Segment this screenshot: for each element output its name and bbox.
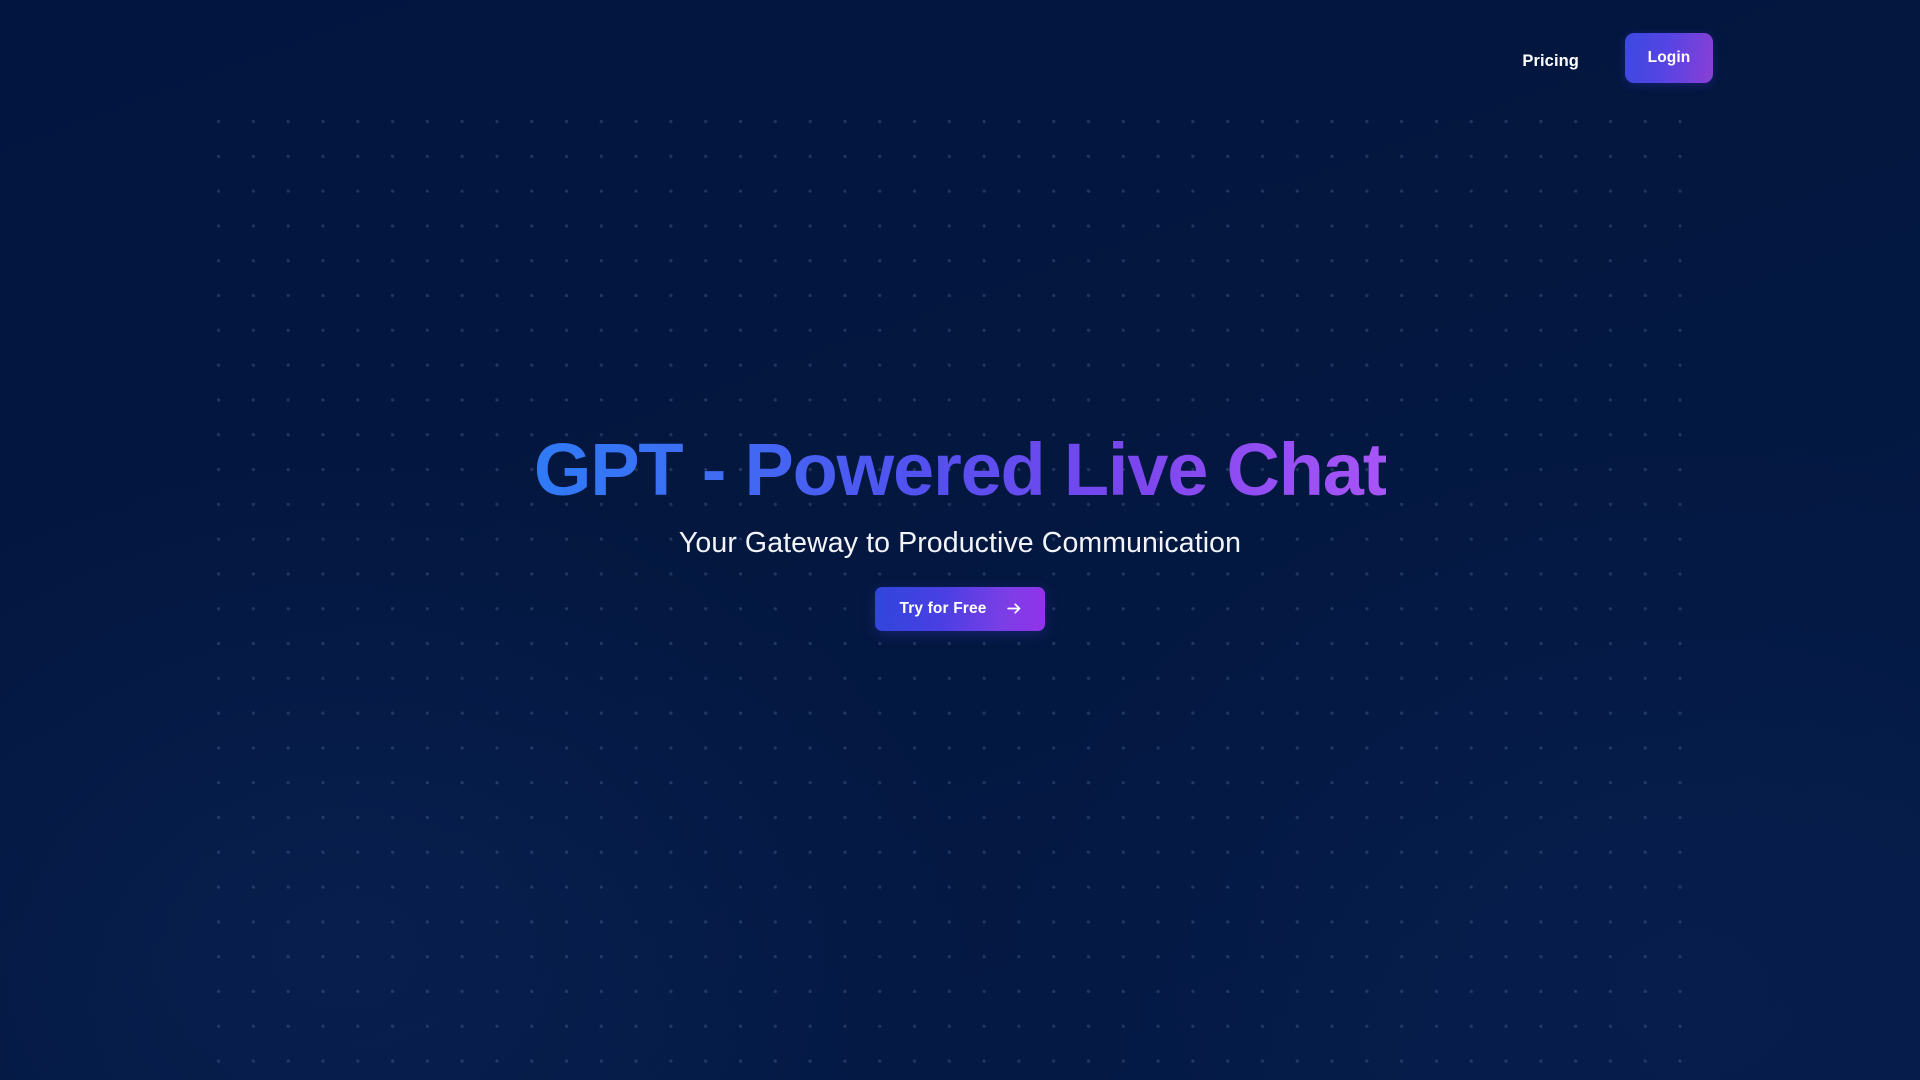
hero-title: GPT - Powered Live Chat <box>534 431 1386 509</box>
try-for-free-button[interactable]: Try for Free <box>875 587 1044 631</box>
login-button[interactable]: Login <box>1625 33 1713 83</box>
nav-link-pricing[interactable]: Pricing <box>1522 33 1579 70</box>
hero-subtitle: Your Gateway to Productive Communication <box>679 526 1241 560</box>
cta-label: Try for Free <box>899 600 986 618</box>
page-background: Pricing Login GPT - Powered Live Chat Yo… <box>0 0 1920 1080</box>
site-header: Pricing Login <box>0 0 1920 120</box>
arrow-right-icon <box>1006 600 1023 617</box>
hero-section: GPT - Powered Live Chat Your Gateway to … <box>0 0 1920 1080</box>
